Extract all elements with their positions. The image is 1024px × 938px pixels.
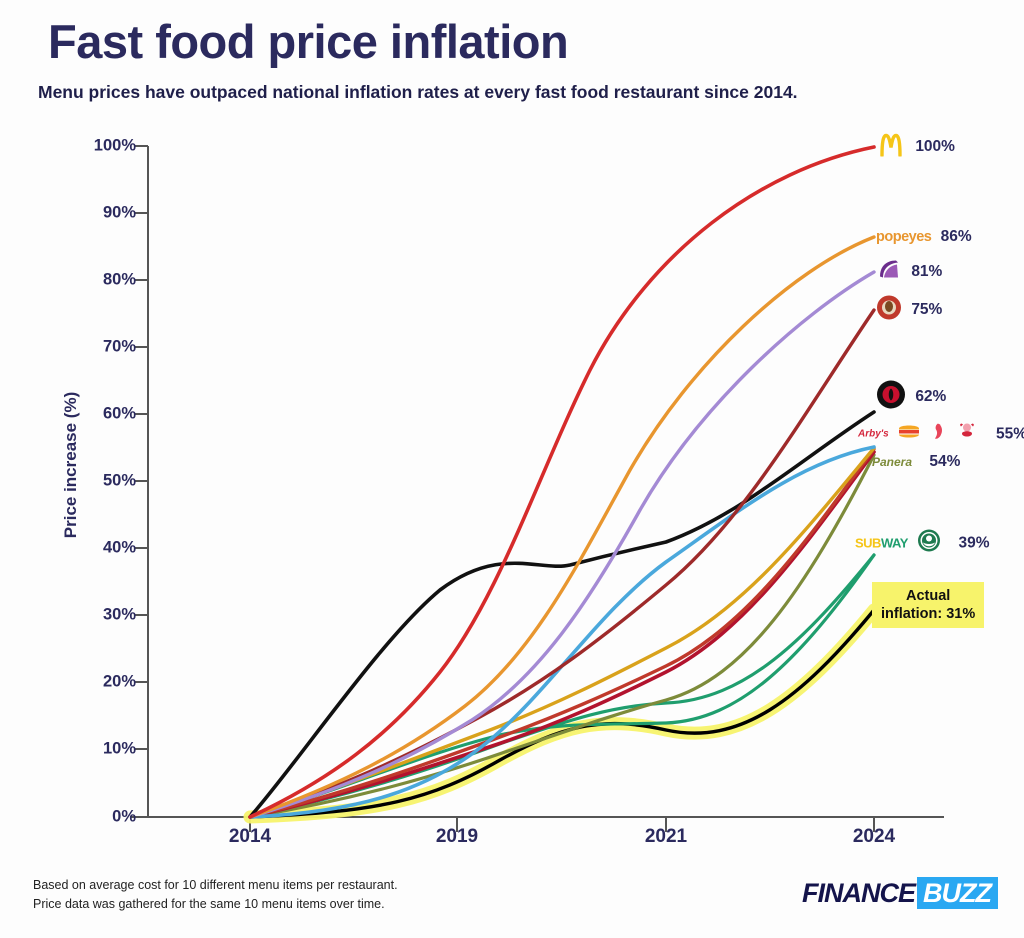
line-chart [0, 0, 1024, 938]
endpoint-label-39-group: SUBWAY 39% [855, 529, 990, 558]
x-tick-2019: 2019 [436, 826, 478, 848]
financebuzz-logo: FINANCEBUZZ [802, 878, 998, 909]
panera-logo: Panera [872, 455, 912, 469]
callout-line2: inflation: 31% [881, 605, 975, 623]
endpoint-value-kfc: 75% [911, 301, 942, 318]
chipotle-logo [876, 380, 906, 415]
endpoint-value-mcdonalds: 100% [915, 138, 955, 155]
tacobell-logo [876, 258, 902, 287]
arbys-logo: Arby's [858, 429, 889, 440]
y-tick-30: 30% [58, 606, 136, 625]
endpoint-label-mcdonalds: 100% [876, 133, 955, 162]
endpoint-value-39: 39% [959, 534, 990, 551]
endpoint-label-55-group: Arby's 55% [858, 422, 1024, 447]
endpoint-value-chipotle: 62% [915, 388, 946, 405]
endpoint-label-popeyes: popeyes 86% [876, 228, 972, 246]
y-tick-50: 50% [58, 472, 136, 491]
kfc-logo [876, 295, 902, 326]
callout-line1: Actual [881, 587, 975, 605]
endpoint-label-kfc: 75% [876, 295, 942, 326]
y-tick-40: 40% [58, 539, 136, 558]
y-tick-0: 0% [58, 808, 136, 827]
y-tick-100: 100% [58, 137, 136, 156]
x-tick-2024: 2024 [853, 826, 895, 848]
popeyes-logo: popeyes [876, 229, 931, 245]
actual-inflation-callout: Actual inflation: 31% [872, 582, 984, 628]
y-tick-70: 70% [58, 338, 136, 357]
chickfila-logo [929, 422, 947, 447]
mcdonalds-logo [876, 133, 906, 162]
starbucks-logo [917, 529, 941, 558]
x-axis-ticks [250, 817, 874, 832]
financebuzz-buzz-text: BUZZ [917, 877, 998, 909]
y-axis-ticks [135, 146, 148, 817]
y-tick-60: 60% [58, 405, 136, 424]
y-tick-10: 10% [58, 740, 136, 759]
series-line-mcdonalds [250, 147, 874, 817]
endpoint-label-panera: Panera 54% [872, 453, 960, 471]
endpoint-value-taco-bell: 81% [911, 263, 942, 280]
footnote: Based on average cost for 10 different m… [33, 876, 398, 915]
burgerking-logo [898, 423, 920, 446]
subway-logo: SUBWAY [855, 536, 908, 551]
endpoint-label-chipotle: 62% [876, 380, 946, 415]
endpoint-value-popeyes: 86% [941, 228, 972, 245]
y-tick-90: 90% [58, 204, 136, 223]
y-tick-20: 20% [58, 673, 136, 692]
endpoint-label-taco-bell: 81% [876, 258, 942, 287]
endpoint-value-panera: 54% [929, 453, 960, 470]
y-tick-80: 80% [58, 271, 136, 290]
footnote-line-2: Price data was gathered for the same 10 … [33, 895, 398, 914]
series-line-chipotle [250, 412, 874, 817]
financebuzz-finance-text: FINANCE [802, 878, 915, 908]
series-line-kfc [250, 310, 874, 817]
x-tick-2014: 2014 [229, 826, 271, 848]
endpoint-value-55: 55% [996, 425, 1024, 442]
x-tick-2021: 2021 [645, 826, 687, 848]
infographic-root: Fast food price inflation Menu prices ha… [0, 0, 1024, 938]
wendys-logo [957, 422, 977, 447]
footnote-line-1: Based on average cost for 10 different m… [33, 876, 398, 895]
